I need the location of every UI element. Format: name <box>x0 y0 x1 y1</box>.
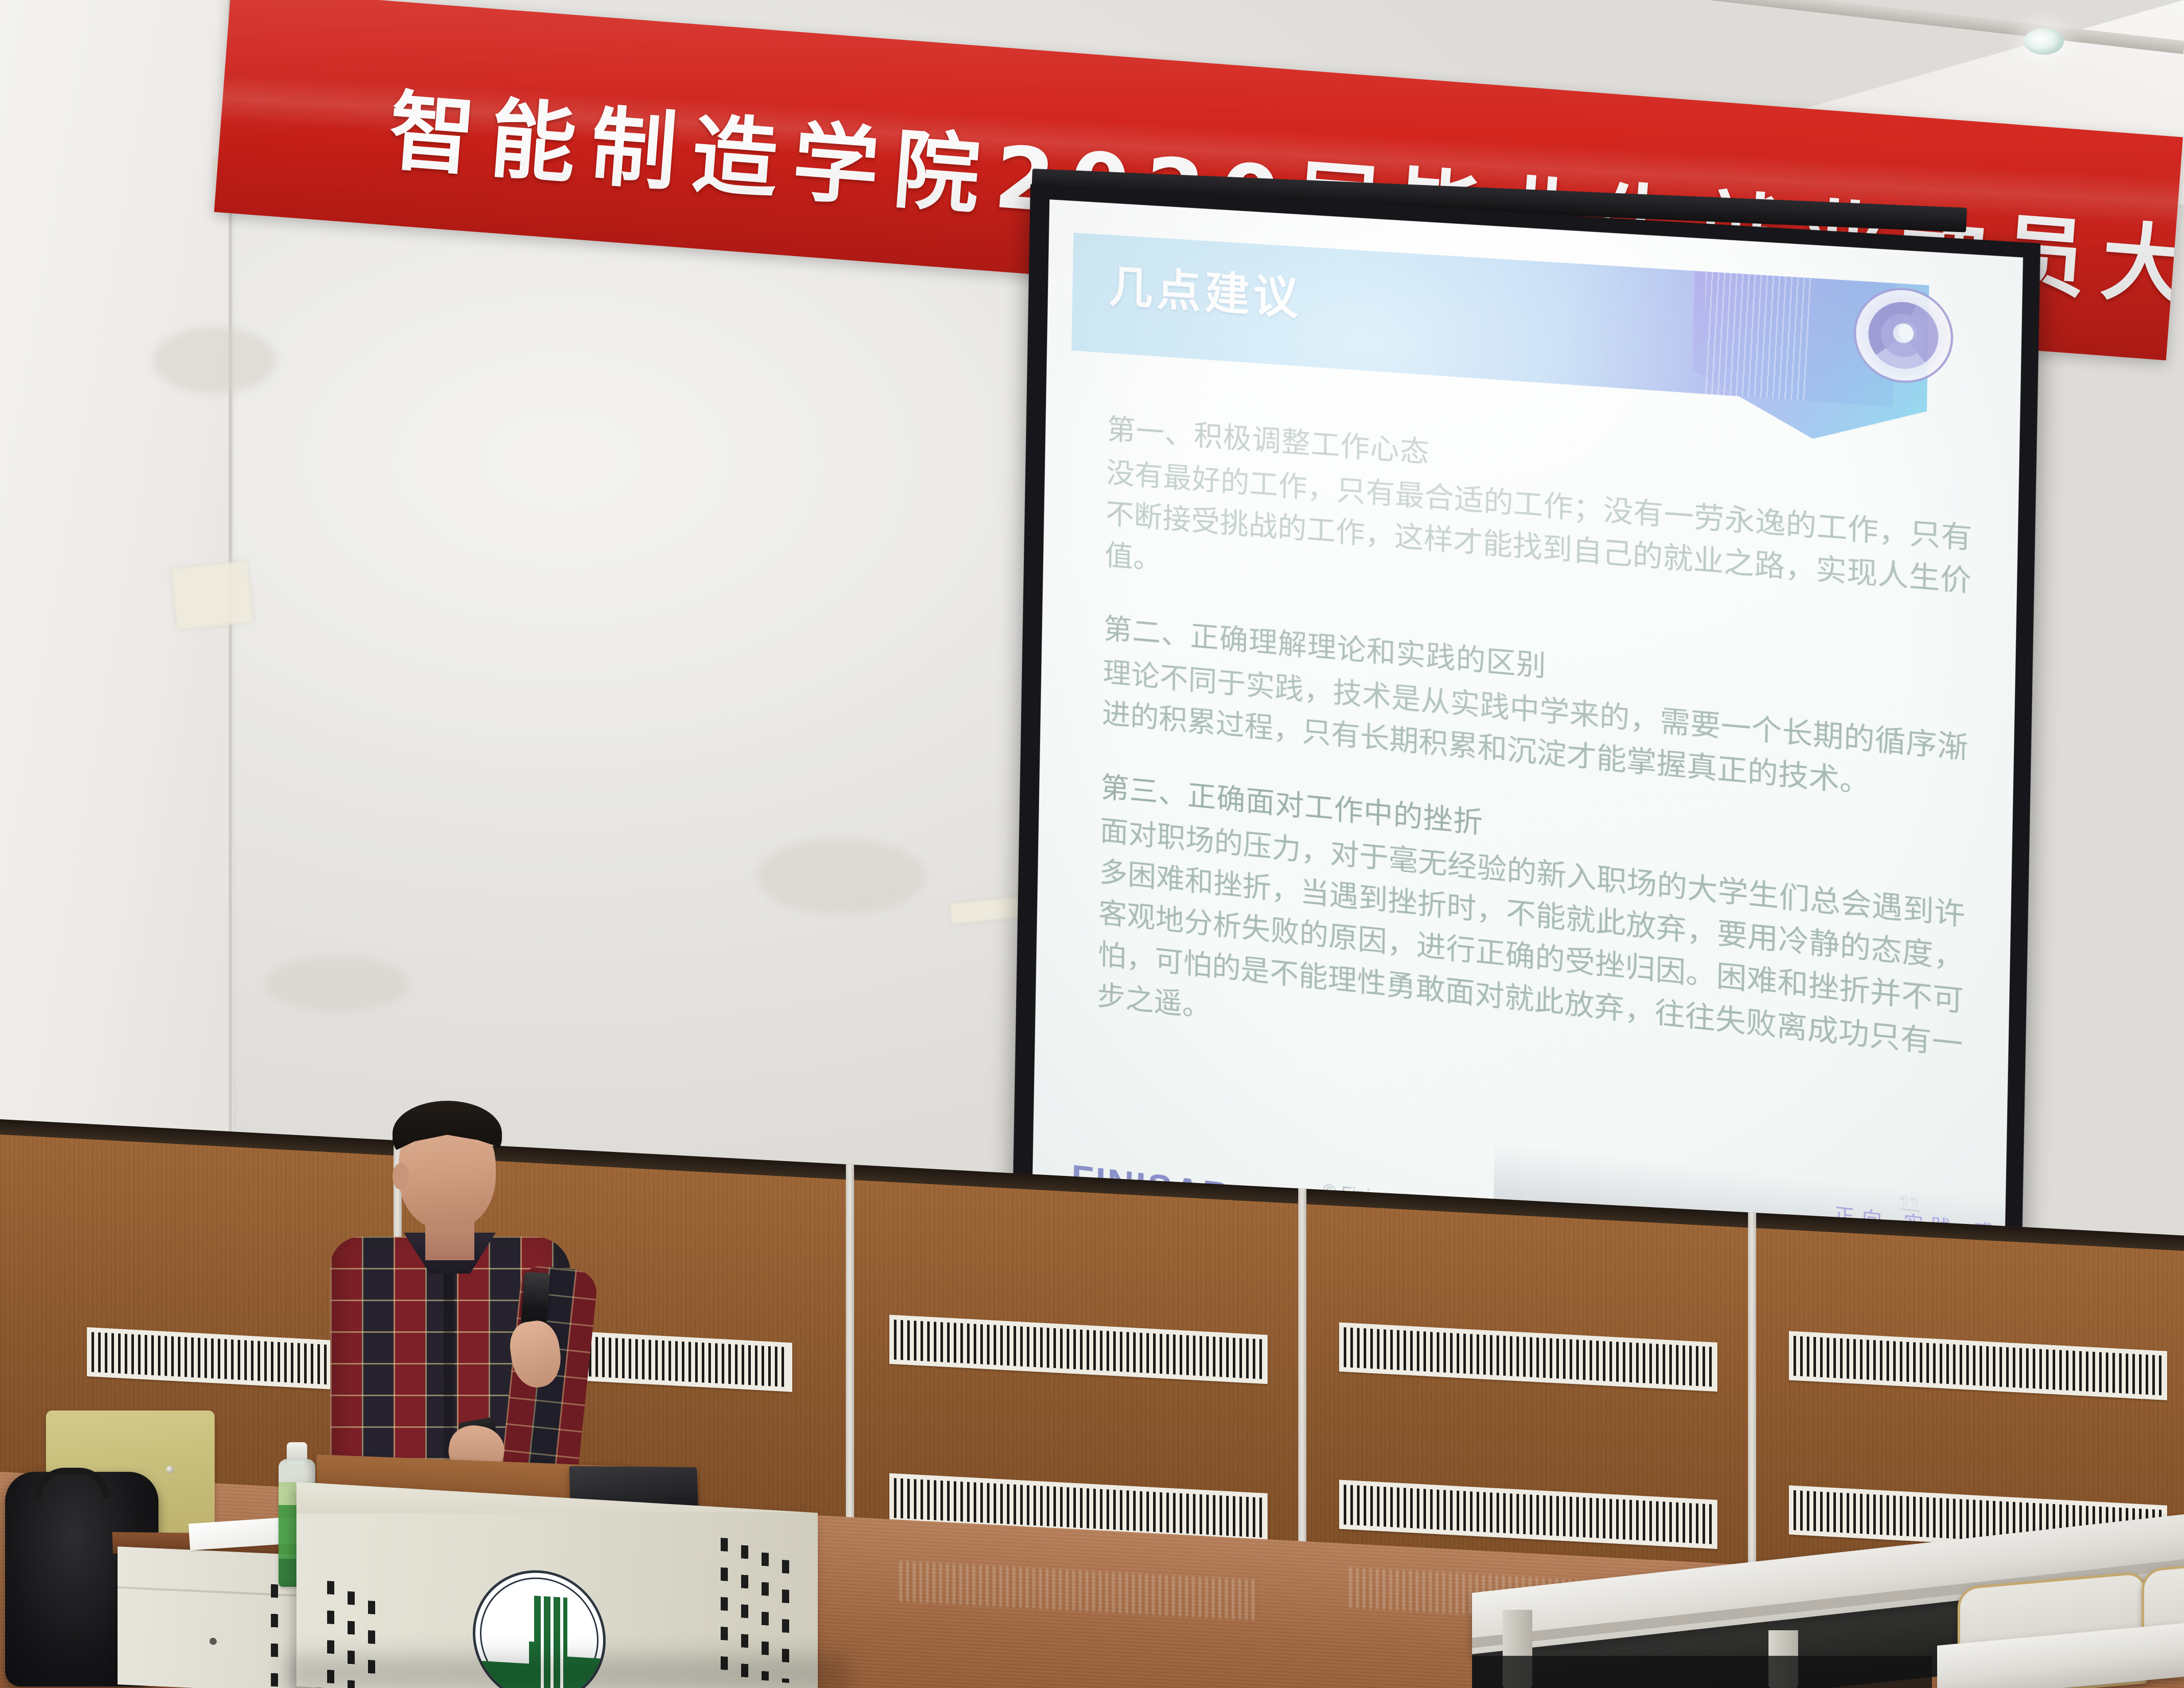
bench-shadow-gap <box>1472 1656 1932 1688</box>
tape-mark <box>171 561 254 630</box>
left-wall-panel <box>0 0 231 1308</box>
wall-vent <box>1789 1331 2167 1400</box>
wainscot-divider <box>846 1164 854 1553</box>
podium-vent-slots <box>721 1538 728 1671</box>
chair-rivet <box>166 1466 174 1473</box>
wall-vent <box>1339 1323 1717 1392</box>
slide-title: 几点建议 <box>1108 250 1303 328</box>
wall-smudge <box>153 327 276 394</box>
wall-vent-louvers <box>1794 1336 2163 1395</box>
wainscot-divider <box>1748 1212 1756 1601</box>
cabinet-lock <box>210 1637 217 1645</box>
wall-vent-louvers <box>1344 1327 1713 1386</box>
slide-paragraph: 第三、正确面对工作中的挫折 面对职场的压力，对于毫无经验的新入职场的大学生们总会… <box>1097 767 1967 1109</box>
wall-smudge <box>756 838 925 915</box>
wainscot-divider <box>1298 1188 1306 1577</box>
wall-vent <box>889 1315 1268 1384</box>
wall-smudge <box>266 956 409 1012</box>
lecture-hall-scene: 智能制造学院2020届毕业生就业动员大会 几点建议 第一、积极调整工作心态 没有… <box>0 0 2184 1688</box>
slide-paragraph: 第一、积极调整工作心态 没有最好的工作，只有最合适的工作；没有一劳永逸的工作，只… <box>1105 408 1973 646</box>
podium-floor-shadow <box>286 1656 848 1688</box>
cabinet-drawer-line <box>118 1586 317 1598</box>
slide-body: 第一、积极调整工作心态 没有最好的工作，只有最合适的工作；没有一劳永逸的工作，只… <box>1096 408 1973 1144</box>
cabinet-vent-slots <box>271 1584 278 1687</box>
wall-vent-louvers <box>894 1320 1263 1379</box>
ceiling-light-icon <box>2024 28 2064 55</box>
presentation-slide: 几点建议 第一、积极调整工作心态 没有最好的工作，只有最合适的工作；没有一劳永逸… <box>1032 199 2023 1333</box>
projection-screen: 几点建议 第一、积极调整工作心态 没有最好的工作，只有最合适的工作；没有一劳永逸… <box>1032 199 2023 1333</box>
presenter-ear <box>393 1163 409 1190</box>
slide-title-bar-stripes <box>1704 271 1811 401</box>
wall-vent-louvers <box>1344 1485 1713 1544</box>
wall-vent <box>1339 1480 1717 1549</box>
